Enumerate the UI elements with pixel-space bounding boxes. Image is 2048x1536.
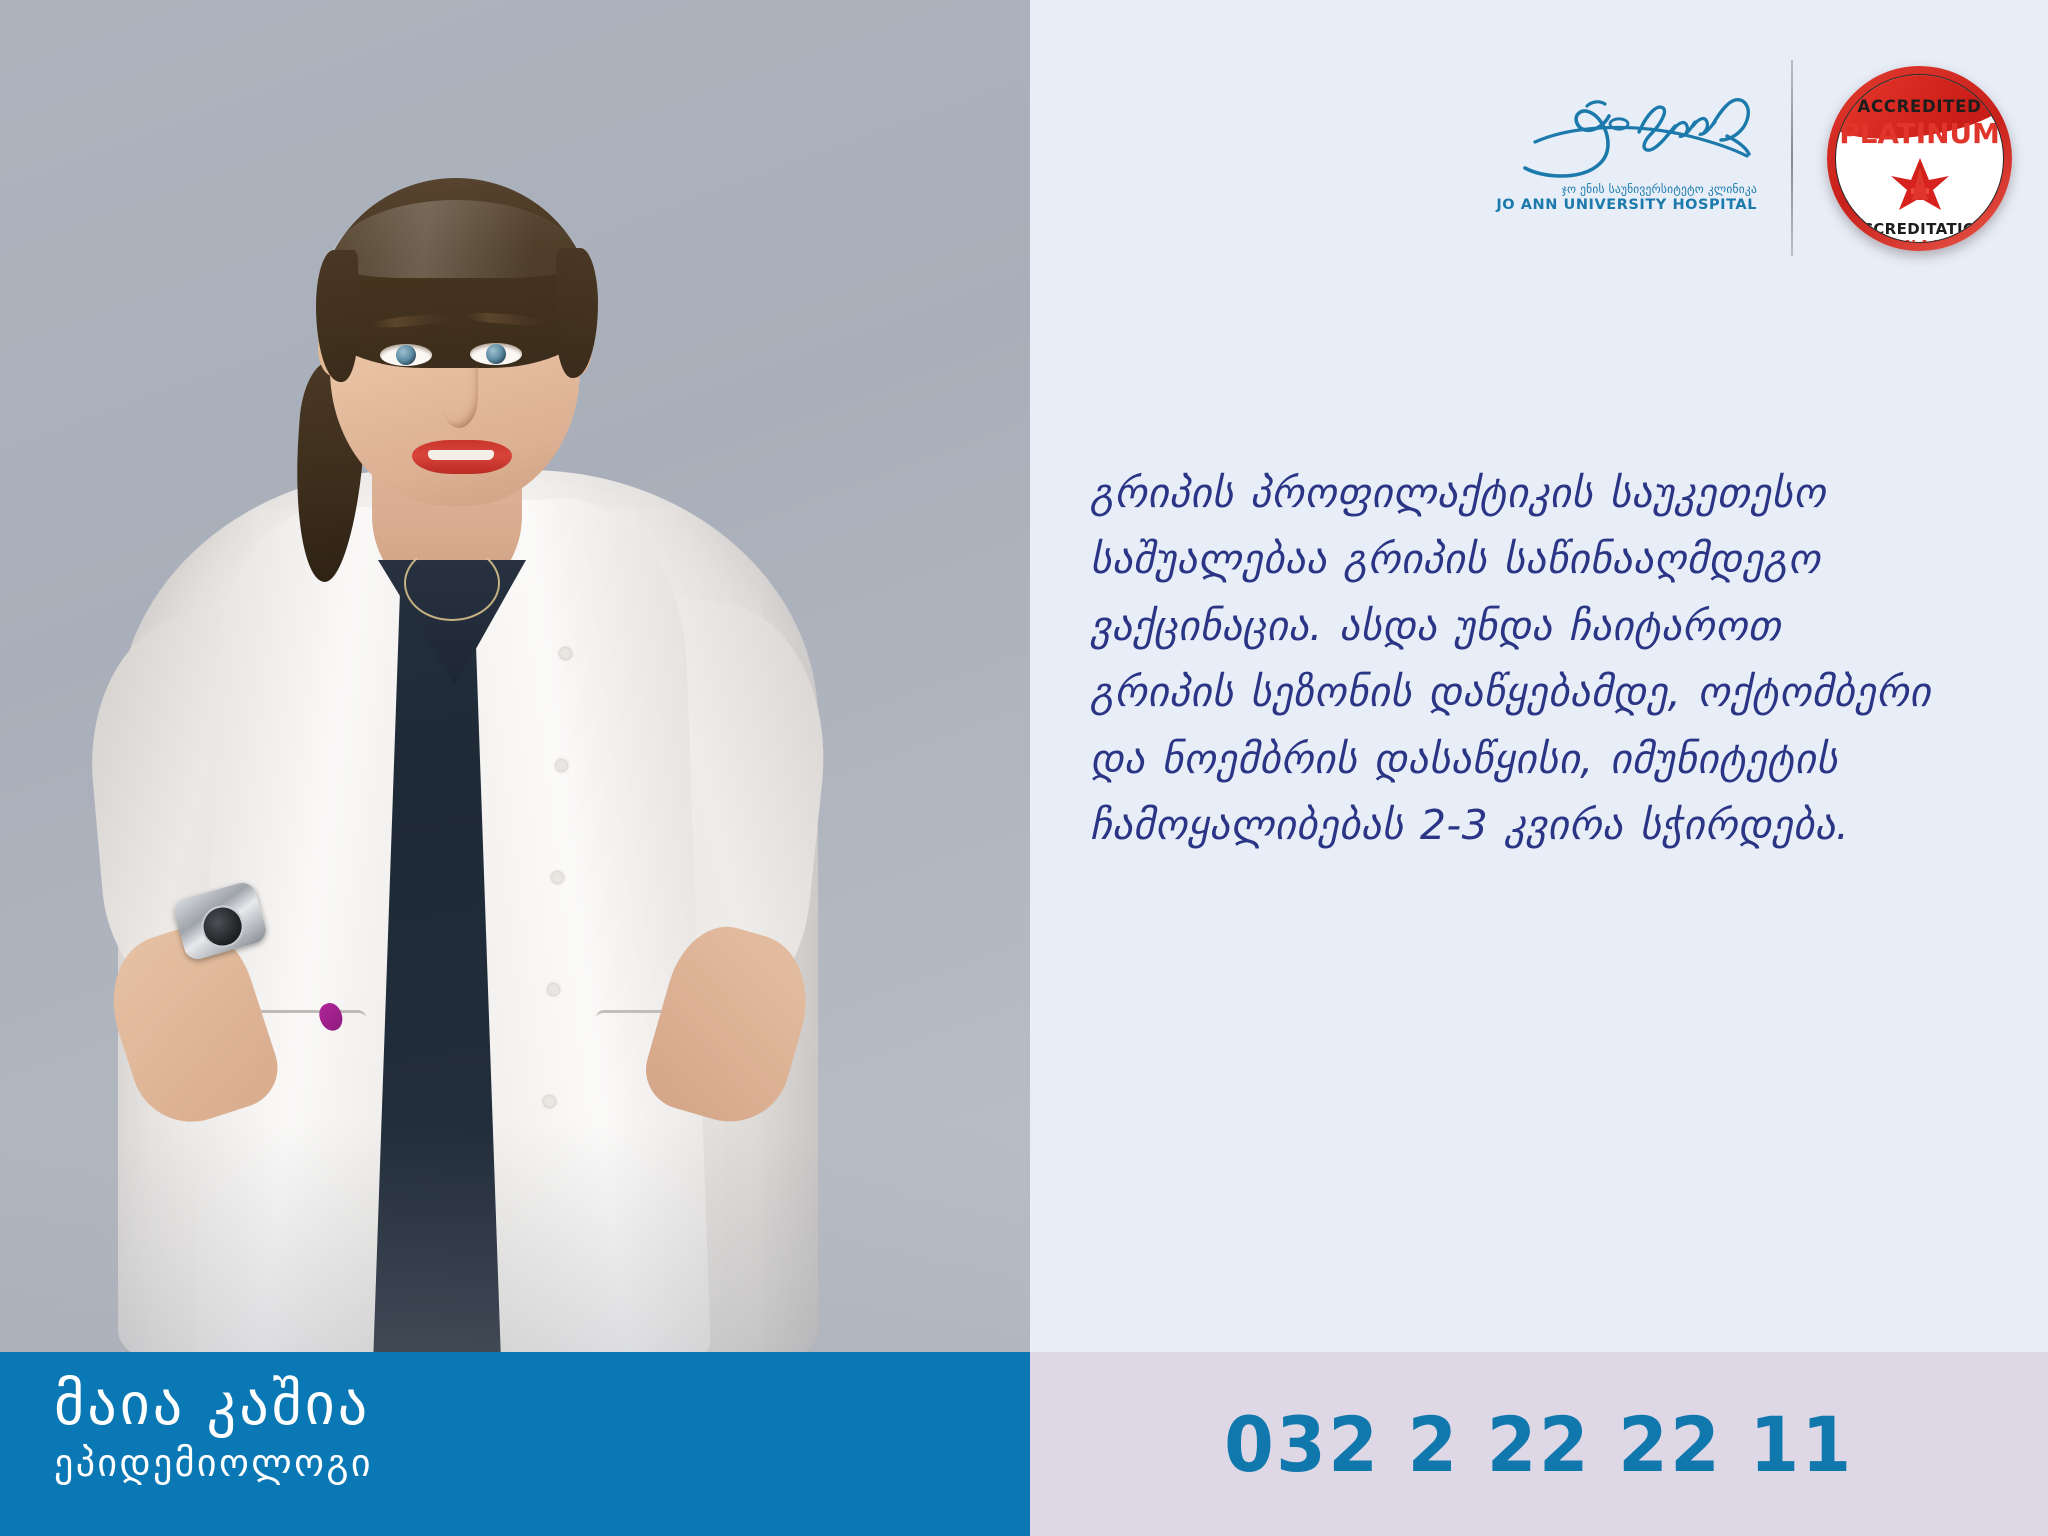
poster-root: ჯო ენის საუნივერსიტეტო კლინიკა JO ANN UN… (0, 0, 2048, 1536)
iris-right (486, 344, 506, 364)
coat-button (560, 648, 571, 659)
badge-accredited-label: ACCREDITED (1857, 97, 1981, 116)
body-copy: გრიპის პროფილაქტიკის საუკეთესო საშუალება… (1090, 460, 2000, 858)
backdrop-shadow (0, 1122, 1030, 1352)
nose (440, 366, 478, 428)
brand-divider (1791, 60, 1793, 256)
doctor-name: მაია კაშია (54, 1372, 1030, 1437)
hospital-logo[interactable]: ჯო ენის საუნივერსიტეტო კლინიკა JO ANN UN… (1496, 96, 1757, 221)
hospital-name-en: JO ANN UNIVERSITY HOSPITAL (1496, 196, 1757, 214)
body-line: და ნოემბრის დასაწყისი, იმუნიტეტის (1090, 726, 2000, 792)
doctor-photo (0, 0, 1030, 1352)
phone-banner[interactable]: 032 2 22 22 11 (1030, 1352, 2048, 1536)
teeth (428, 450, 494, 460)
body-line: საშუალებაა გრიპის საწინააღმდეგო (1090, 526, 2000, 592)
hospital-name-ka: ჯო ენის საუნივერსიტეტო კლინიკა (1562, 182, 1757, 196)
badge-face: ACCREDITED PLATINUM ACCREDITATION CANADA (1835, 74, 2004, 243)
badge-tier-label: PLATINUM (1839, 117, 2000, 150)
body-line: ვაქცინაცია. ასდა უნდა ჩაიტაროთ (1090, 593, 2000, 659)
branding-row: ჯო ენის საუნივერსიტეტო კლინიკა JO ANN UN… (1496, 60, 2012, 256)
doctor-role: ეპიდემიოლოგი (54, 1441, 1030, 1487)
necklace (404, 545, 500, 621)
body-line: გრიპის პროფილაქტიკის საუკეთესო (1090, 460, 2000, 526)
badge-org-label: ACCREDITATION (1850, 220, 1989, 238)
coat-button (556, 760, 567, 771)
coat-button (548, 984, 559, 995)
accreditation-canada-star-icon (1889, 156, 1951, 216)
content-panel: ჯო ენის საუნივერსიტეტო კლინიკა JO ANN UN… (1030, 0, 2048, 1352)
iris-left (396, 345, 416, 365)
accreditation-badge[interactable]: ACCREDITED PLATINUM ACCREDITATION CANADA (1827, 66, 2012, 251)
hair-side-right (556, 248, 598, 378)
coat-button (552, 872, 563, 883)
name-banner: მაია კაშია ეპიდემიოლოგი (0, 1352, 1030, 1536)
jo-ann-signature-script-icon (1521, 96, 1757, 182)
phone-number[interactable]: 032 2 22 22 11 (1224, 1400, 1853, 1489)
body-line: ჩამოყალიბებას 2-3 კვირა სჭირდება. (1090, 792, 2000, 858)
portrait-panel (0, 0, 1030, 1352)
body-line: გრიპის სეზონის დაწყებამდე, ოქტომბერი (1090, 659, 2000, 725)
hair (318, 178, 594, 368)
coat-button (544, 1096, 555, 1107)
